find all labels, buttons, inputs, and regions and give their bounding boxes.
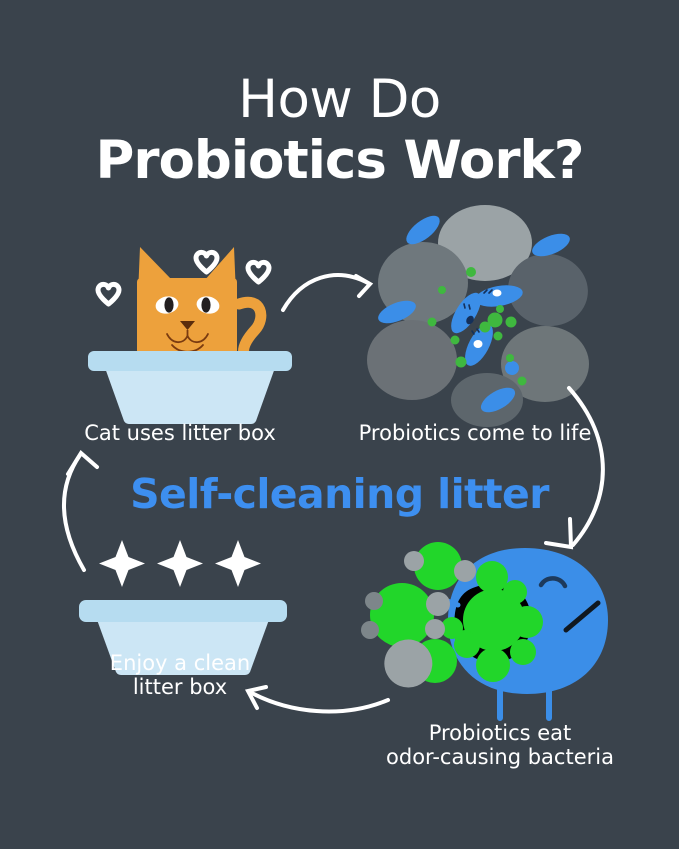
probiotic-character-icon bbox=[361, 542, 608, 718]
arrow-cat-to-probiotics bbox=[283, 275, 370, 310]
headline-self-cleaning-litter: Self-cleaning litter bbox=[0, 471, 679, 518]
caption-probiotics-eat-bacteria: Probiotics eat odor-causing bacteria bbox=[350, 721, 650, 769]
caption-cat-uses-litter-box: Cat uses litter box bbox=[55, 421, 305, 445]
arrow-probiotics-to-eating bbox=[546, 388, 603, 547]
caption-enjoy-clean-litter-box: Enjoy a clean litter box bbox=[55, 651, 305, 699]
litter-box-icon bbox=[88, 351, 292, 424]
caption-probiotics-come-to-life: Probiotics come to life bbox=[335, 421, 615, 445]
sparkle-star-icon bbox=[99, 540, 261, 587]
infographic-canvas: How Do Probiotics Work? bbox=[0, 0, 679, 849]
probiotic-cluster bbox=[367, 205, 594, 427]
